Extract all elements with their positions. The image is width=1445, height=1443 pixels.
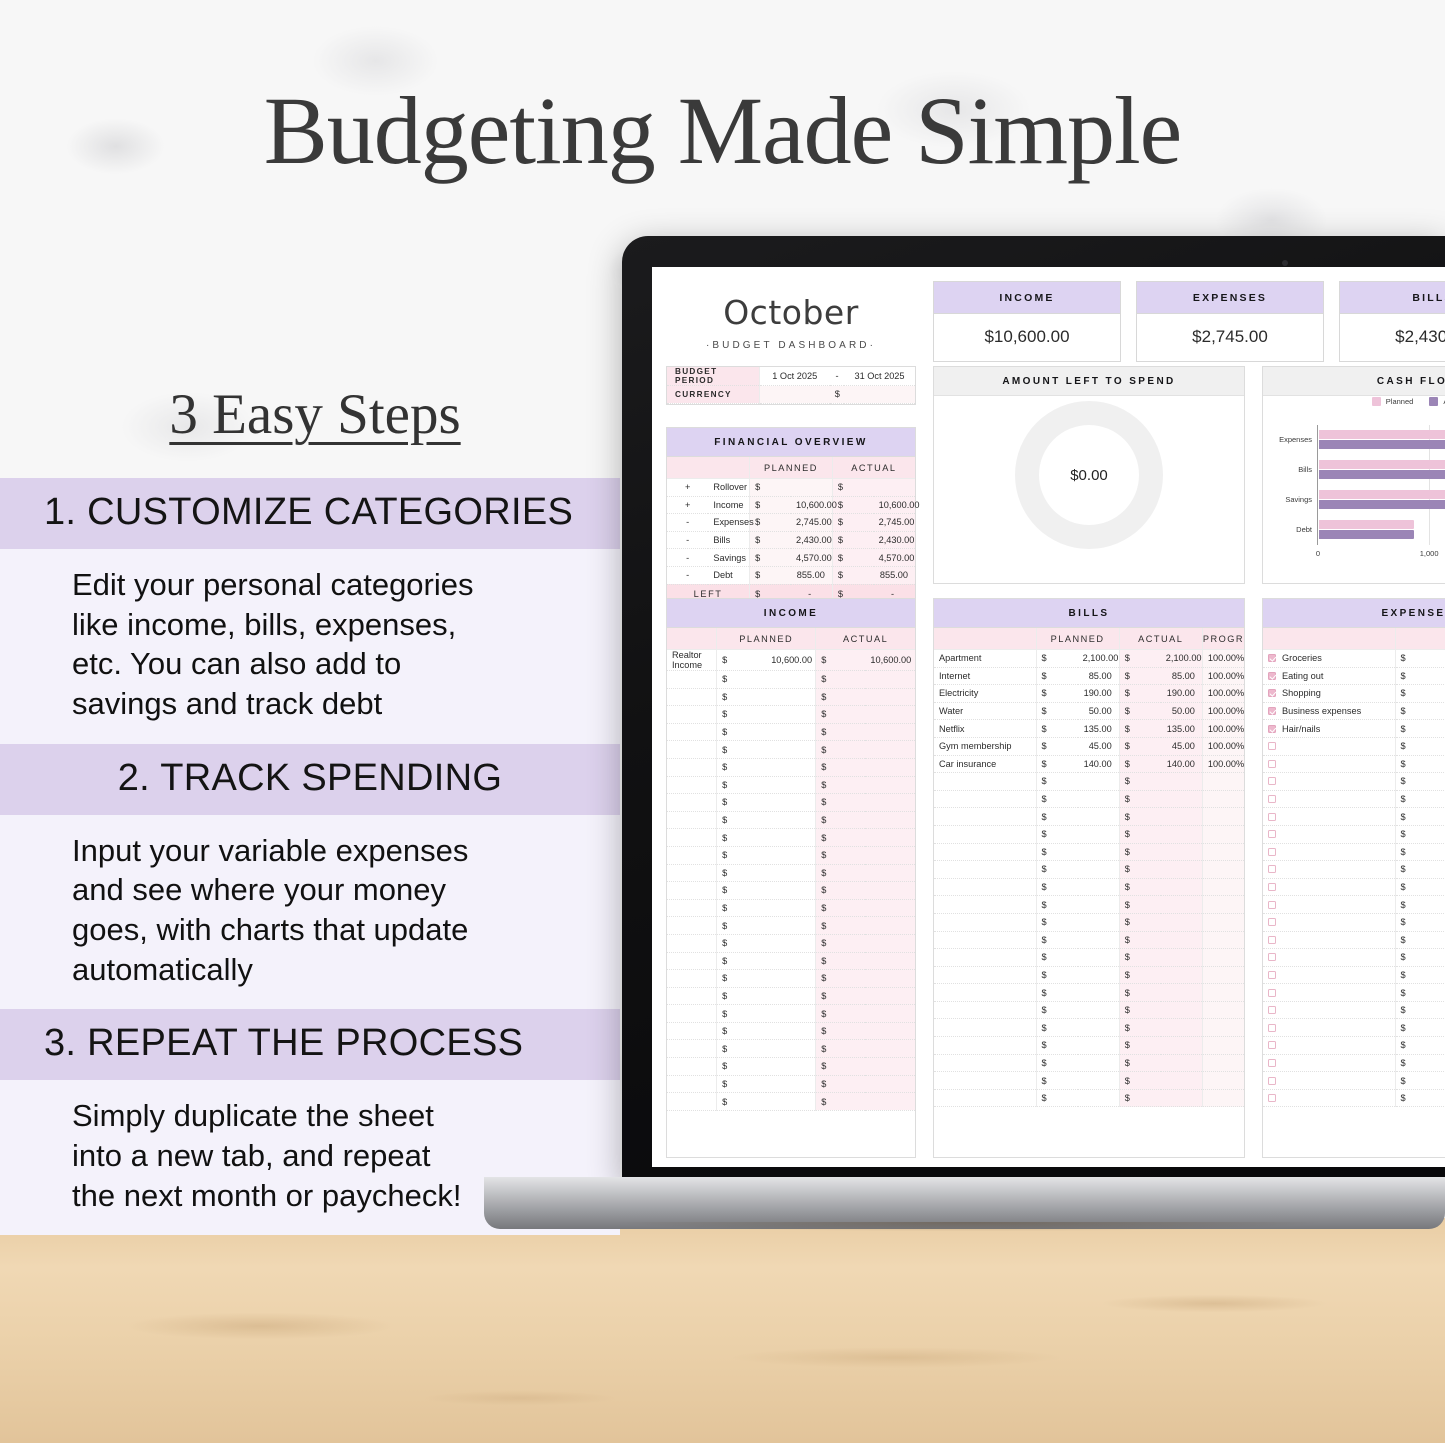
- table-row[interactable]: $$: [667, 741, 915, 759]
- row-actual-value[interactable]: [865, 811, 915, 829]
- row-actual-value[interactable]: [865, 723, 915, 741]
- row-planned-value[interactable]: [1078, 878, 1120, 896]
- row-planned-value[interactable]: [766, 741, 816, 759]
- row-label[interactable]: [667, 1075, 717, 1093]
- checkbox-icon[interactable]: [1268, 795, 1276, 803]
- row-actual-value[interactable]: [865, 776, 915, 794]
- row-actual-value[interactable]: [874, 479, 915, 497]
- row-planned-value[interactable]: [766, 671, 816, 689]
- row-actual-value[interactable]: 135.00: [1161, 720, 1203, 738]
- row-actual-value[interactable]: [1161, 896, 1203, 914]
- table-row[interactable]: $: [1263, 825, 1445, 843]
- table-row[interactable]: $$: [667, 899, 915, 917]
- table-row[interactable]: $$: [934, 790, 1244, 808]
- row-label[interactable]: [934, 966, 1036, 984]
- table-row[interactable]: $$: [934, 1054, 1244, 1072]
- row-label[interactable]: [667, 741, 717, 759]
- table-row[interactable]: Apartment$2,100.00$2,100.00100.00%: [934, 650, 1244, 668]
- table-row[interactable]: $$: [934, 931, 1244, 949]
- row-label[interactable]: [667, 899, 717, 917]
- checkbox-icon[interactable]: [1268, 654, 1276, 662]
- row-label[interactable]: [667, 882, 717, 900]
- row-planned-value[interactable]: 2,745.00: [791, 514, 832, 532]
- checkbox-icon[interactable]: [1268, 936, 1276, 944]
- row-label[interactable]: [934, 913, 1036, 931]
- row-planned-value[interactable]: [766, 987, 816, 1005]
- row-label[interactable]: [1263, 878, 1395, 896]
- row-label[interactable]: [1263, 737, 1395, 755]
- row-actual-value[interactable]: [865, 1093, 915, 1111]
- row-label[interactable]: Realtor Income: [667, 650, 717, 671]
- row-actual-value[interactable]: [865, 917, 915, 935]
- row-planned-value[interactable]: [766, 1005, 816, 1023]
- row-label[interactable]: Gym membership: [934, 737, 1036, 755]
- row-label[interactable]: [667, 846, 717, 864]
- checkbox-icon[interactable]: [1268, 725, 1276, 733]
- row-planned-value[interactable]: [766, 952, 816, 970]
- row-label[interactable]: [667, 776, 717, 794]
- table-row[interactable]: $$: [667, 811, 915, 829]
- checkbox-icon[interactable]: [1268, 883, 1276, 891]
- row-label[interactable]: [667, 1022, 717, 1040]
- row-actual-value[interactable]: 4,570.00: [874, 549, 915, 567]
- table-row[interactable]: $$: [934, 1019, 1244, 1037]
- checkbox-icon[interactable]: [1268, 989, 1276, 997]
- table-row[interactable]: $$: [667, 829, 915, 847]
- row-label[interactable]: [1263, 808, 1395, 826]
- table-row[interactable]: $$: [934, 808, 1244, 826]
- row-actual-value[interactable]: [1161, 843, 1203, 861]
- table-row[interactable]: $$: [934, 1037, 1244, 1055]
- row-planned-value[interactable]: [766, 776, 816, 794]
- row-label[interactable]: [934, 949, 1036, 967]
- row-label[interactable]: Eating out: [1263, 667, 1395, 685]
- table-row[interactable]: $$: [667, 846, 915, 864]
- row-actual-value[interactable]: [1161, 1089, 1203, 1107]
- table-row[interactable]: Business expenses$650.: [1263, 702, 1445, 720]
- checkbox-icon[interactable]: [1268, 953, 1276, 961]
- table-row[interactable]: Groceries$550.: [1263, 650, 1445, 668]
- table-row[interactable]: Internet$85.00$85.00100.00%: [934, 667, 1244, 685]
- row-actual-value[interactable]: 855.00: [874, 566, 915, 584]
- row-planned-value[interactable]: [766, 811, 816, 829]
- table-row[interactable]: $$: [667, 864, 915, 882]
- table-row[interactable]: $: [1263, 949, 1445, 967]
- row-planned-value[interactable]: 140.00: [1078, 755, 1120, 773]
- table-row[interactable]: $$: [667, 776, 915, 794]
- table-row[interactable]: $$: [667, 758, 915, 776]
- row-actual-value[interactable]: [1161, 1001, 1203, 1019]
- row-label[interactable]: Electricity: [934, 685, 1036, 703]
- row-planned-value[interactable]: [766, 706, 816, 724]
- row-planned-value[interactable]: [1078, 966, 1120, 984]
- table-row[interactable]: $$: [934, 773, 1244, 791]
- table-row[interactable]: $: [1263, 1072, 1445, 1090]
- table-row[interactable]: $$: [934, 913, 1244, 931]
- row-actual-value[interactable]: [1161, 825, 1203, 843]
- checkbox-icon[interactable]: [1268, 689, 1276, 697]
- row-label[interactable]: [1263, 931, 1395, 949]
- table-row[interactable]: $$: [934, 825, 1244, 843]
- row-actual-value[interactable]: [865, 758, 915, 776]
- table-row[interactable]: $$: [667, 1093, 915, 1111]
- row-planned-value[interactable]: [766, 882, 816, 900]
- checkbox-icon[interactable]: [1268, 813, 1276, 821]
- row-planned-value[interactable]: [766, 970, 816, 988]
- row-planned-value[interactable]: 4,570.00: [791, 549, 832, 567]
- checkbox-icon[interactable]: [1268, 848, 1276, 856]
- row-actual-value[interactable]: [1161, 773, 1203, 791]
- row-label[interactable]: [1263, 825, 1395, 843]
- table-row[interactable]: -Expenses$2,745.00$2,745.00: [667, 514, 915, 532]
- row-label[interactable]: [667, 671, 717, 689]
- table-row[interactable]: $$: [934, 984, 1244, 1002]
- row-planned-value[interactable]: [1078, 1019, 1120, 1037]
- row-label[interactable]: [667, 688, 717, 706]
- row-actual-value[interactable]: [865, 882, 915, 900]
- row-planned-value[interactable]: [791, 479, 832, 497]
- table-row[interactable]: -Bills$2,430.00$2,430.00: [667, 531, 915, 549]
- row-planned-value[interactable]: [766, 1093, 816, 1111]
- checkbox-icon[interactable]: [1268, 1077, 1276, 1085]
- row-actual-value[interactable]: [1161, 966, 1203, 984]
- checkbox-icon[interactable]: [1268, 865, 1276, 873]
- table-row[interactable]: $: [1263, 913, 1445, 931]
- row-actual-value[interactable]: 2,430.00: [874, 531, 915, 549]
- row-actual-value[interactable]: [1161, 931, 1203, 949]
- checkbox-icon[interactable]: [1268, 742, 1276, 750]
- row-actual-value[interactable]: [865, 706, 915, 724]
- row-planned-value[interactable]: [766, 864, 816, 882]
- row-label[interactable]: Car insurance: [934, 755, 1036, 773]
- table-row[interactable]: $$: [667, 917, 915, 935]
- checkbox-icon[interactable]: [1268, 918, 1276, 926]
- budget-period-end[interactable]: 31 Oct 2025: [844, 367, 915, 386]
- row-label[interactable]: [667, 864, 717, 882]
- checkbox-icon[interactable]: [1268, 1006, 1276, 1014]
- checkbox-icon[interactable]: [1268, 1024, 1276, 1032]
- row-label[interactable]: [934, 825, 1036, 843]
- row-actual-value[interactable]: 2,745.00: [874, 514, 915, 532]
- row-actual-value[interactable]: 50.00: [1161, 702, 1203, 720]
- row-actual-value[interactable]: [865, 741, 915, 759]
- table-row[interactable]: $$: [934, 843, 1244, 861]
- table-row[interactable]: Realtor Income$10,600.00$10,600.00: [667, 650, 915, 671]
- table-row[interactable]: $: [1263, 931, 1445, 949]
- row-label[interactable]: [667, 706, 717, 724]
- row-planned-value[interactable]: [1078, 949, 1120, 967]
- row-label[interactable]: [667, 917, 717, 935]
- table-row[interactable]: -Debt$855.00$855.00: [667, 566, 915, 584]
- row-planned-value[interactable]: [1078, 773, 1120, 791]
- row-actual-value[interactable]: [865, 1058, 915, 1076]
- row-label[interactable]: [667, 811, 717, 829]
- table-row[interactable]: Shopping$700.: [1263, 685, 1445, 703]
- row-actual-value[interactable]: [1161, 861, 1203, 879]
- row-label[interactable]: [1263, 984, 1395, 1002]
- row-actual-value[interactable]: 140.00: [1161, 755, 1203, 773]
- row-label[interactable]: [1263, 861, 1395, 879]
- table-row[interactable]: $: [1263, 843, 1445, 861]
- row-label[interactable]: [934, 843, 1036, 861]
- row-planned-value[interactable]: 45.00: [1078, 737, 1120, 755]
- row-label[interactable]: [934, 808, 1036, 826]
- row-planned-value[interactable]: [1078, 896, 1120, 914]
- table-row[interactable]: $$: [667, 794, 915, 812]
- table-row[interactable]: $$: [934, 966, 1244, 984]
- row-label[interactable]: Apartment: [934, 650, 1036, 668]
- row-planned-value[interactable]: [1078, 1054, 1120, 1072]
- table-row[interactable]: $: [1263, 773, 1445, 791]
- row-actual-value[interactable]: [1161, 808, 1203, 826]
- row-actual-value[interactable]: [865, 846, 915, 864]
- row-label[interactable]: [1263, 1072, 1395, 1090]
- table-row[interactable]: $: [1263, 1001, 1445, 1019]
- row-planned-value[interactable]: 10,600.00: [766, 650, 816, 671]
- row-planned-value[interactable]: 135.00: [1078, 720, 1120, 738]
- table-row[interactable]: $$: [934, 896, 1244, 914]
- row-planned-value[interactable]: [766, 794, 816, 812]
- row-planned-value[interactable]: [1078, 1001, 1120, 1019]
- table-row[interactable]: $$: [667, 882, 915, 900]
- row-label[interactable]: [667, 970, 717, 988]
- currency-value[interactable]: $: [759, 386, 915, 404]
- table-row[interactable]: $: [1263, 790, 1445, 808]
- row-planned-value[interactable]: [1078, 913, 1120, 931]
- table-row[interactable]: $: [1263, 1037, 1445, 1055]
- row-planned-value[interactable]: 85.00: [1078, 667, 1120, 685]
- row-label[interactable]: [934, 773, 1036, 791]
- row-actual-value[interactable]: [865, 899, 915, 917]
- row-actual-value[interactable]: [1161, 878, 1203, 896]
- table-row[interactable]: Netflix$135.00$135.00100.00%: [934, 720, 1244, 738]
- row-label[interactable]: [934, 861, 1036, 879]
- row-planned-value[interactable]: 2,100.00: [1078, 650, 1120, 668]
- row-actual-value[interactable]: [865, 970, 915, 988]
- row-label[interactable]: [1263, 843, 1395, 861]
- table-row[interactable]: $: [1263, 737, 1445, 755]
- table-row[interactable]: $$: [667, 934, 915, 952]
- row-label[interactable]: [934, 931, 1036, 949]
- row-label[interactable]: [1263, 1054, 1395, 1072]
- row-planned-value[interactable]: [766, 758, 816, 776]
- table-row[interactable]: $$: [934, 861, 1244, 879]
- table-row[interactable]: $$: [667, 723, 915, 741]
- row-planned-value[interactable]: [1078, 1089, 1120, 1107]
- row-label[interactable]: [934, 984, 1036, 1002]
- checkbox-icon[interactable]: [1268, 672, 1276, 680]
- table-row[interactable]: $$: [667, 1040, 915, 1058]
- row-planned-value[interactable]: [1078, 1072, 1120, 1090]
- table-row[interactable]: $$: [667, 1005, 915, 1023]
- row-planned-value[interactable]: [766, 846, 816, 864]
- row-actual-value[interactable]: [865, 952, 915, 970]
- table-row[interactable]: $: [1263, 755, 1445, 773]
- row-actual-value[interactable]: [1161, 1019, 1203, 1037]
- row-actual-value[interactable]: [1161, 1054, 1203, 1072]
- row-planned-value[interactable]: 50.00: [1078, 702, 1120, 720]
- row-label[interactable]: [1263, 949, 1395, 967]
- row-label[interactable]: [1263, 1037, 1395, 1055]
- row-label[interactable]: [934, 790, 1036, 808]
- row-actual-value[interactable]: [865, 1040, 915, 1058]
- table-row[interactable]: $: [1263, 896, 1445, 914]
- row-label[interactable]: [1263, 896, 1395, 914]
- row-planned-value[interactable]: [1078, 790, 1120, 808]
- row-label[interactable]: [934, 1001, 1036, 1019]
- row-label[interactable]: [934, 1037, 1036, 1055]
- table-row[interactable]: Gym membership$45.00$45.00100.00%: [934, 737, 1244, 755]
- row-actual-value[interactable]: [1161, 949, 1203, 967]
- row-label[interactable]: [934, 878, 1036, 896]
- row-label[interactable]: Shopping: [1263, 685, 1395, 703]
- row-planned-value[interactable]: [766, 1040, 816, 1058]
- row-planned-value[interactable]: [1078, 808, 1120, 826]
- row-label[interactable]: [667, 987, 717, 1005]
- table-row[interactable]: $$: [934, 949, 1244, 967]
- row-planned-value[interactable]: [766, 934, 816, 952]
- row-planned-value[interactable]: [766, 917, 816, 935]
- row-label[interactable]: [667, 934, 717, 952]
- row-planned-value[interactable]: [766, 723, 816, 741]
- row-actual-value[interactable]: [865, 934, 915, 952]
- row-label[interactable]: [934, 1072, 1036, 1090]
- table-row[interactable]: $: [1263, 966, 1445, 984]
- row-label[interactable]: [934, 1054, 1036, 1072]
- table-row[interactable]: $$: [667, 688, 915, 706]
- row-label[interactable]: Hair/nails: [1263, 720, 1395, 738]
- checkbox-icon[interactable]: [1268, 760, 1276, 768]
- row-actual-value[interactable]: [1161, 1037, 1203, 1055]
- row-planned-value[interactable]: [1078, 984, 1120, 1002]
- row-actual-value[interactable]: 45.00: [1161, 737, 1203, 755]
- row-actual-value[interactable]: [865, 864, 915, 882]
- row-label[interactable]: [934, 1089, 1036, 1107]
- checkbox-icon[interactable]: [1268, 830, 1276, 838]
- table-row[interactable]: $$: [667, 1075, 915, 1093]
- row-label[interactable]: Groceries: [1263, 650, 1395, 668]
- table-row[interactable]: $$: [667, 987, 915, 1005]
- row-planned-value[interactable]: 855.00: [791, 566, 832, 584]
- kpi-card-expenses[interactable]: EXPENSES $2,745.00: [1136, 281, 1324, 362]
- row-actual-value[interactable]: [865, 794, 915, 812]
- row-planned-value[interactable]: [1078, 825, 1120, 843]
- checkbox-icon[interactable]: [1268, 1041, 1276, 1049]
- row-planned-value[interactable]: [766, 1075, 816, 1093]
- row-planned-value[interactable]: [1078, 1037, 1120, 1055]
- row-actual-value[interactable]: [1161, 984, 1203, 1002]
- row-label[interactable]: Internet: [934, 667, 1036, 685]
- table-row[interactable]: $: [1263, 1019, 1445, 1037]
- table-row[interactable]: $: [1263, 878, 1445, 896]
- table-row[interactable]: Hair/nails$230.: [1263, 720, 1445, 738]
- table-row[interactable]: Car insurance$140.00$140.00100.00%: [934, 755, 1244, 773]
- kpi-card-income[interactable]: INCOME $10,600.00: [933, 281, 1121, 362]
- table-row[interactable]: $: [1263, 1054, 1445, 1072]
- row-planned-value[interactable]: 2,430.00: [791, 531, 832, 549]
- row-actual-value[interactable]: [865, 829, 915, 847]
- checkbox-icon[interactable]: [1268, 901, 1276, 909]
- row-label[interactable]: [934, 896, 1036, 914]
- row-label[interactable]: [1263, 773, 1395, 791]
- row-label[interactable]: [667, 1040, 717, 1058]
- row-label[interactable]: [1263, 790, 1395, 808]
- row-label[interactable]: [1263, 1001, 1395, 1019]
- table-row[interactable]: $$: [934, 1001, 1244, 1019]
- table-row[interactable]: $: [1263, 808, 1445, 826]
- table-row[interactable]: $: [1263, 1089, 1445, 1107]
- table-row[interactable]: $$: [667, 1058, 915, 1076]
- table-row[interactable]: $: [1263, 984, 1445, 1002]
- row-label[interactable]: Water: [934, 702, 1036, 720]
- table-row[interactable]: $$: [934, 878, 1244, 896]
- table-row[interactable]: $$: [667, 706, 915, 724]
- table-row[interactable]: $$: [934, 1072, 1244, 1090]
- table-row[interactable]: $: [1263, 861, 1445, 879]
- row-planned-value[interactable]: [766, 1058, 816, 1076]
- row-actual-value[interactable]: [1161, 1072, 1203, 1090]
- row-label[interactable]: [667, 1005, 717, 1023]
- row-planned-value[interactable]: [766, 899, 816, 917]
- row-label[interactable]: [1263, 1019, 1395, 1037]
- table-row[interactable]: +Rollover$$: [667, 479, 915, 497]
- table-row[interactable]: $$: [667, 952, 915, 970]
- row-planned-value[interactable]: [766, 829, 816, 847]
- checkbox-icon[interactable]: [1268, 1059, 1276, 1067]
- row-label[interactable]: Business expenses: [1263, 702, 1395, 720]
- row-label[interactable]: [1263, 755, 1395, 773]
- row-planned-value[interactable]: [766, 1022, 816, 1040]
- row-label[interactable]: Netflix: [934, 720, 1036, 738]
- row-label[interactable]: [667, 952, 717, 970]
- row-label[interactable]: [667, 794, 717, 812]
- row-actual-value[interactable]: [865, 688, 915, 706]
- row-planned-value[interactable]: 10,600.00: [791, 496, 832, 514]
- budget-period-panel[interactable]: BUDGET PERIOD 1 Oct 2025 - 31 Oct 2025 C…: [666, 366, 916, 405]
- budget-period-start[interactable]: 1 Oct 2025: [759, 367, 830, 386]
- table-row[interactable]: $$: [667, 671, 915, 689]
- row-actual-value[interactable]: [865, 1075, 915, 1093]
- row-label[interactable]: [934, 1019, 1036, 1037]
- row-label[interactable]: [1263, 1089, 1395, 1107]
- table-row[interactable]: Water$50.00$50.00100.00%: [934, 702, 1244, 720]
- kpi-card-bills[interactable]: BILLS $2,430.00: [1339, 281, 1445, 362]
- row-actual-value[interactable]: 10,600.00: [865, 650, 915, 671]
- row-planned-value[interactable]: [1078, 843, 1120, 861]
- row-label[interactable]: [667, 829, 717, 847]
- row-actual-value[interactable]: 190.00: [1161, 685, 1203, 703]
- row-label[interactable]: [667, 723, 717, 741]
- row-planned-value[interactable]: [1078, 861, 1120, 879]
- table-row[interactable]: $$: [667, 970, 915, 988]
- row-label[interactable]: [667, 1058, 717, 1076]
- checkbox-icon[interactable]: [1268, 707, 1276, 715]
- checkbox-icon[interactable]: [1268, 971, 1276, 979]
- row-actual-value[interactable]: [1161, 913, 1203, 931]
- row-planned-value[interactable]: [1078, 931, 1120, 949]
- row-actual-value[interactable]: 2,100.00: [1161, 650, 1203, 668]
- table-row[interactable]: -Savings$4,570.00$4,570.00: [667, 549, 915, 567]
- checkbox-icon[interactable]: [1268, 777, 1276, 785]
- row-actual-value[interactable]: [865, 1005, 915, 1023]
- table-row[interactable]: Eating out$300.: [1263, 667, 1445, 685]
- row-planned-value[interactable]: 190.00: [1078, 685, 1120, 703]
- row-actual-value[interactable]: [865, 987, 915, 1005]
- table-row[interactable]: $$: [934, 1089, 1244, 1107]
- row-label[interactable]: [1263, 966, 1395, 984]
- table-row[interactable]: Electricity$190.00$190.00100.00%: [934, 685, 1244, 703]
- row-actual-value[interactable]: 10,600.00: [874, 496, 915, 514]
